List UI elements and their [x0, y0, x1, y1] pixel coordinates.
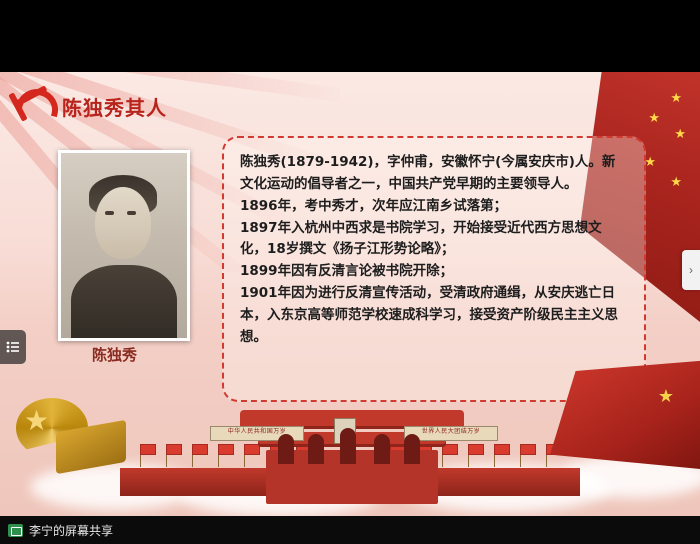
presentation-slide: ★ ★ ★ ★ ★ 陈独秀其人 陈独秀 陈独秀(1879-1942)，字仲甫， — [0, 72, 700, 516]
screen-share-view: ★ ★ ★ ★ ★ 陈独秀其人 陈独秀 陈独秀(1879-1942)，字仲甫， — [0, 0, 700, 544]
share-status-label: 李宁的屏幕共享 — [29, 522, 113, 539]
decorative-tiananmen-scene: 中华人民共和国万岁 世界人民大团结万岁 ★ ★ — [0, 376, 700, 516]
portrait-photo — [58, 150, 190, 341]
decorative-red-flag-right: ★ — [550, 360, 700, 470]
page-title: 陈独秀其人 — [62, 92, 167, 121]
list-menu-icon[interactable] — [0, 330, 26, 364]
portrait-caption: 陈独秀 — [92, 344, 137, 365]
chevron-right-icon[interactable]: › — [682, 250, 700, 290]
letterbox-top — [0, 0, 700, 72]
paragraph-2: 1896年，考中秀才，次年应江南乡试落第； — [240, 196, 628, 218]
share-status-bar: 李宁的屏幕共享 — [0, 516, 700, 544]
content-panel: 陈独秀(1879-1942)，字仲甫，安徽怀宁(今属安庆市)人。新文化运动的倡导… — [222, 136, 646, 402]
paragraph-3: 1897年入杭州中西求是书院学习，开始接受近代西方思想文化，18岁撰文《扬子江形… — [240, 218, 628, 262]
paragraph-4: 1899年因有反清言论被书院开除； — [240, 261, 628, 283]
party-emblem-icon — [10, 87, 56, 127]
decorative-gate: 中华人民共和国万岁 世界人民大团结万岁 — [252, 410, 452, 506]
paragraph-5: 1901年因为进行反清宣传活动，受清政府通缉，从安庆逃亡日本，入东京高等师范学校… — [240, 283, 628, 349]
decorative-gold-emblem: ★ — [8, 386, 138, 476]
screen-share-icon — [8, 524, 23, 537]
gate-banner-right-text: 世界人民大团结万岁 — [405, 427, 497, 438]
paragraph-1: 陈独秀(1879-1942)，字仲甫，安徽怀宁(今属安庆市)人。新文化运动的倡导… — [240, 152, 628, 196]
